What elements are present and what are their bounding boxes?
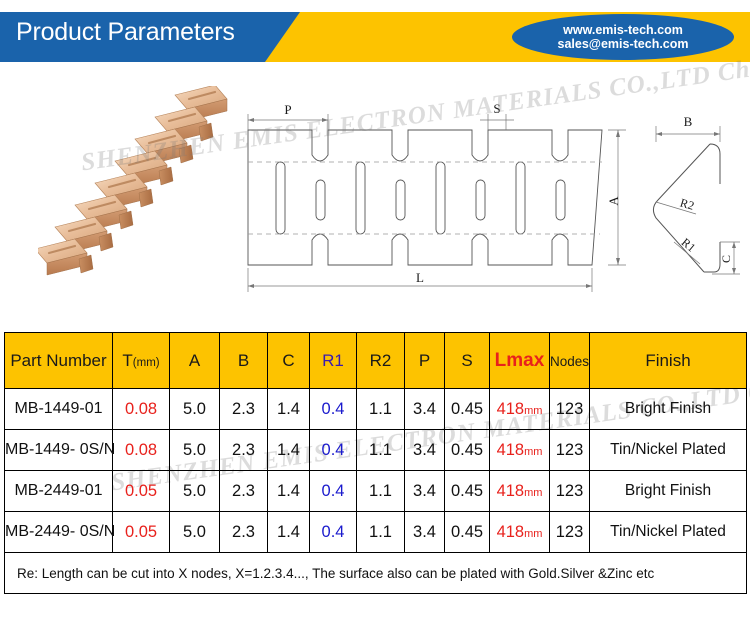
value-r1: 0.4: [322, 441, 345, 459]
cell-part-number: MB-1449- 0S/N: [5, 430, 113, 471]
table-body: MB-1449-01 0.08 5.0 2.3 1.4 0.4 1.1 3.4 …: [5, 389, 747, 594]
cell-thickness: 0.05: [113, 512, 170, 553]
cell-b: 2.3: [220, 471, 268, 512]
header-label-nodes: Nodes: [550, 354, 589, 369]
table-header-row: Part Number T(mm) A B C R1 R2 P S Lmax N…: [5, 333, 747, 389]
column-header-c: C: [268, 333, 310, 389]
header-label-p: P: [419, 351, 430, 370]
dimension-label-l: L: [416, 270, 424, 285]
dimension-label-c: C: [719, 255, 733, 263]
technical-drawing-area: P S A L: [0, 78, 750, 328]
cell-r2: 1.1: [357, 512, 405, 553]
cell-finish: Tin/Nickel Plated: [590, 430, 747, 471]
cell-finish: Tin/Nickel Plated: [590, 512, 747, 553]
value-r1: 0.4: [322, 523, 345, 541]
header-label-thickness-unit: (mm): [133, 357, 160, 369]
cell-s: 0.45: [445, 512, 490, 553]
value-r1: 0.4: [322, 482, 345, 500]
cell-a: 5.0: [170, 471, 220, 512]
column-header-p: P: [405, 333, 445, 389]
cell-lmax: 418mm: [490, 512, 550, 553]
dimension-label-r2: R2: [678, 195, 695, 212]
dimension-label-s: S: [493, 101, 500, 116]
cell-r2: 1.1: [357, 430, 405, 471]
column-header-s: S: [445, 333, 490, 389]
header-label-r1: R1: [322, 351, 344, 370]
cell-part-number: MB-2449- 0S/N: [5, 512, 113, 553]
cell-c: 1.4: [268, 389, 310, 430]
value-lmax: 418: [497, 482, 525, 500]
cell-nodes: 123: [550, 512, 590, 553]
cell-nodes: 123: [550, 430, 590, 471]
cell-r1: 0.4: [310, 471, 357, 512]
value-lmax: 418: [497, 523, 525, 541]
value-lmax-unit: mm: [524, 487, 542, 499]
cell-nodes: 123: [550, 389, 590, 430]
cell-r1: 0.4: [310, 512, 357, 553]
cell-c: 1.4: [268, 471, 310, 512]
header-label-a: A: [189, 351, 200, 370]
value-lmax-unit: mm: [524, 405, 542, 417]
cell-s: 0.45: [445, 471, 490, 512]
value-thickness: 0.05: [125, 523, 157, 541]
cell-r1: 0.4: [310, 430, 357, 471]
value-lmax: 418: [497, 441, 525, 459]
cell-r2: 1.1: [357, 389, 405, 430]
header-label-s: S: [461, 351, 472, 370]
column-header-finish: Finish: [590, 333, 747, 389]
column-header-thickness: T(mm): [113, 333, 170, 389]
cell-c: 1.4: [268, 512, 310, 553]
cell-c: 1.4: [268, 430, 310, 471]
page-title: Product Parameters: [16, 18, 235, 47]
page-header: Product Parameters www.emis-tech.com sal…: [0, 0, 750, 78]
parameters-table: Part Number T(mm) A B C R1 R2 P S Lmax N…: [4, 332, 747, 594]
header-label-r2: R2: [370, 351, 392, 370]
dimension-label-r1: R1: [679, 235, 699, 255]
dimension-label-a: A: [606, 196, 621, 206]
column-header-r2: R2: [357, 333, 405, 389]
table-row[interactable]: MB-2449-01 0.05 5.0 2.3 1.4 0.4 1.1 3.4 …: [5, 471, 747, 512]
column-header-r1: R1: [310, 333, 357, 389]
cell-s: 0.45: [445, 389, 490, 430]
cell-part-number: MB-1449-01: [5, 389, 113, 430]
value-thickness: 0.08: [125, 400, 157, 418]
cell-lmax: 418mm: [490, 389, 550, 430]
cell-thickness: 0.08: [113, 430, 170, 471]
cell-lmax: 418mm: [490, 471, 550, 512]
header-label-thickness: T: [122, 351, 132, 370]
table-row[interactable]: MB-1449- 0S/N 0.08 5.0 2.3 1.4 0.4 1.1 3…: [5, 430, 747, 471]
value-lmax-unit: mm: [524, 528, 542, 540]
cell-p: 3.4: [405, 389, 445, 430]
cell-nodes: 123: [550, 471, 590, 512]
cell-lmax: 418mm: [490, 430, 550, 471]
column-header-nodes: Nodes: [550, 333, 590, 389]
contact-email[interactable]: sales@emis-tech.com: [558, 37, 689, 51]
cell-b: 2.3: [220, 430, 268, 471]
header-label-b: B: [238, 351, 249, 370]
cell-r2: 1.1: [357, 471, 405, 512]
column-header-part-number: Part Number: [5, 333, 113, 389]
cell-finish: Bright Finish: [590, 389, 747, 430]
value-thickness: 0.08: [125, 441, 157, 459]
header-label-c: C: [282, 351, 294, 370]
cell-b: 2.3: [220, 512, 268, 553]
cell-b: 2.3: [220, 389, 268, 430]
cell-s: 0.45: [445, 430, 490, 471]
dimension-label-p: P: [284, 102, 291, 117]
cell-p: 3.4: [405, 512, 445, 553]
cell-p: 3.4: [405, 471, 445, 512]
table-note: Re: Length can be cut into X nodes, X=1.…: [5, 553, 747, 594]
table-note-row: Re: Length can be cut into X nodes, X=1.…: [5, 553, 747, 594]
cell-thickness: 0.05: [113, 471, 170, 512]
cell-thickness: 0.08: [113, 389, 170, 430]
flat-pattern-drawing: P S A L: [240, 100, 640, 300]
header-label-part-number: Part Number: [10, 351, 106, 370]
value-lmax: 418: [497, 400, 525, 418]
column-header-lmax: Lmax: [490, 333, 550, 389]
cell-a: 5.0: [170, 512, 220, 553]
dimension-label-b: B: [684, 114, 693, 129]
cell-a: 5.0: [170, 430, 220, 471]
table-row[interactable]: MB-2449- 0S/N 0.05 5.0 2.3 1.4 0.4 1.1 3…: [5, 512, 747, 553]
parameters-table-container: Part Number T(mm) A B C R1 R2 P S Lmax N…: [4, 332, 746, 594]
column-header-a: A: [170, 333, 220, 389]
column-header-b: B: [220, 333, 268, 389]
table-row[interactable]: MB-1449-01 0.08 5.0 2.3 1.4 0.4 1.1 3.4 …: [5, 389, 747, 430]
cell-finish: Bright Finish: [590, 471, 747, 512]
product-photo-isometric: [38, 86, 233, 286]
contact-badge: www.emis-tech.com sales@emis-tech.com: [512, 14, 734, 60]
value-thickness: 0.05: [125, 482, 157, 500]
cell-a: 5.0: [170, 389, 220, 430]
cell-p: 3.4: [405, 430, 445, 471]
value-lmax-unit: mm: [524, 446, 542, 458]
contact-website[interactable]: www.emis-tech.com: [563, 23, 683, 37]
header-label-lmax: Lmax: [495, 350, 545, 371]
cross-section-drawing: B R2 R1 C: [642, 102, 750, 292]
cell-part-number: MB-2449-01: [5, 471, 113, 512]
cell-r1: 0.4: [310, 389, 357, 430]
value-r1: 0.4: [322, 400, 345, 418]
header-label-finish: Finish: [645, 351, 690, 370]
